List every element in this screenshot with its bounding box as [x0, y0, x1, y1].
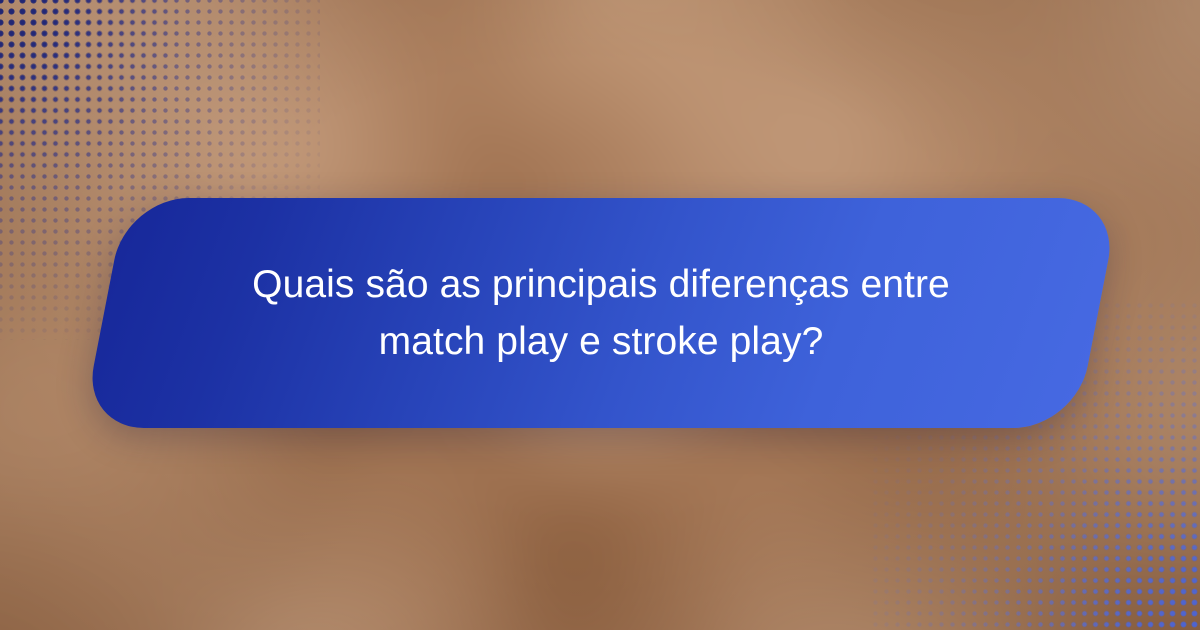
question-line-1: Quais são as principais diferenças entre [252, 256, 950, 313]
question-line-2: match play e stroke play? [379, 313, 824, 370]
question-card: Quais são as principais diferenças entre… [104, 198, 1098, 428]
poster-canvas: Quais são as principais diferenças entre… [0, 0, 1200, 630]
question-card-content: Quais são as principais diferenças entre… [104, 198, 1098, 428]
